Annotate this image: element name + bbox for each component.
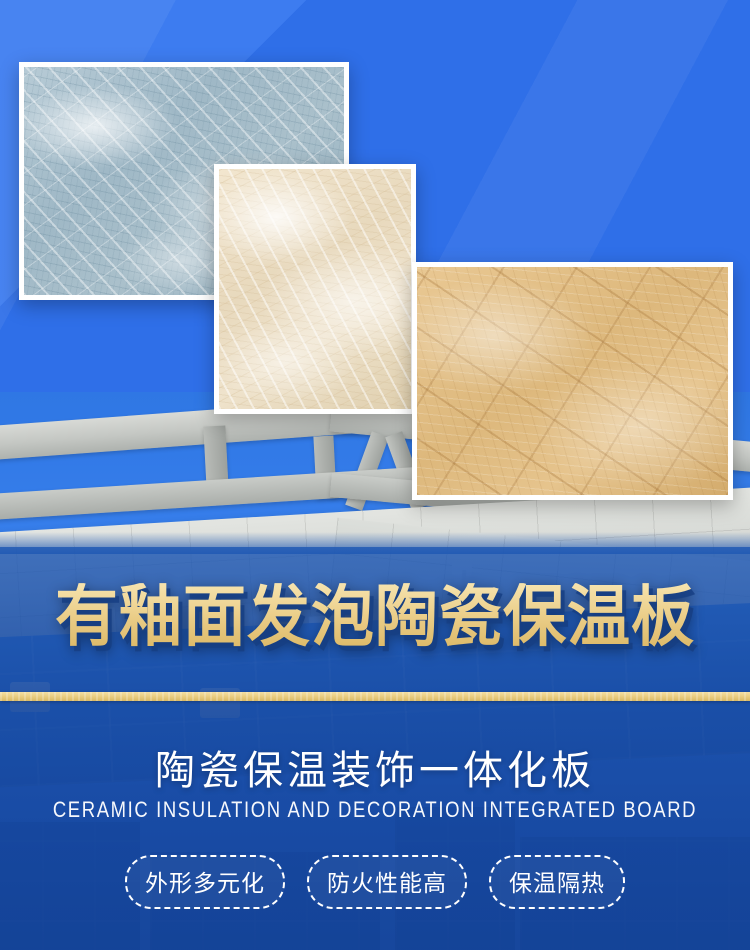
feature-badge-fire-resistance[interactable]: 防火性能高 [307, 855, 467, 909]
product-subtitle-en: CERAMIC INSULATION AND DECORATION INTEGR… [0, 797, 750, 823]
product-banner: 有釉面发泡陶瓷保温板 陶瓷保温装饰一体化板 CERAMIC INSULATION… [0, 0, 750, 950]
feature-badge-shape-diversity[interactable]: 外形多元化 [125, 855, 285, 909]
tile-sample-ivory-marble [214, 164, 416, 414]
gold-divider [0, 692, 750, 701]
tile-surface [417, 267, 728, 495]
feature-badge-list: 外形多元化 防火性能高 保温隔热 [0, 855, 750, 909]
product-headline: 有釉面发泡陶瓷保温板 [0, 583, 750, 650]
tile-surface [219, 169, 411, 409]
tile-sample-tan-marble [412, 262, 733, 500]
feature-badge-thermal-insulation[interactable]: 保温隔热 [489, 855, 625, 909]
product-subtitle-cn: 陶瓷保温装饰一体化板 [0, 738, 750, 796]
